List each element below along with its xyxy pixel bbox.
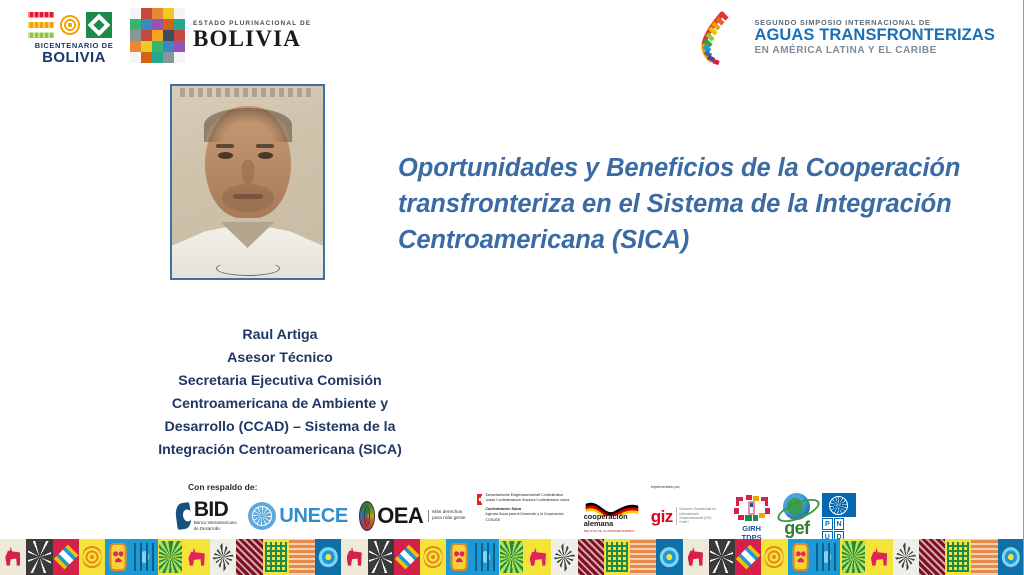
simposio-line3: EN AMÉRICA LATINA Y EL CARIBE xyxy=(754,45,995,56)
textile-tile xyxy=(998,539,1024,575)
wiphala-cell xyxy=(174,52,185,63)
wiphala-cell xyxy=(141,52,152,63)
textile-tile xyxy=(735,539,761,575)
textile-tile xyxy=(446,539,472,575)
cosude-agency-text: Agencia Suiza para el Desarrollo y la Co… xyxy=(485,512,572,523)
wiphala-cell xyxy=(152,52,163,63)
textile-tile xyxy=(105,539,131,575)
girh-tdps-mark-icon xyxy=(732,493,772,523)
bicentenario-icon-row xyxy=(28,12,120,38)
textile-tile xyxy=(158,539,184,575)
photo-hair xyxy=(204,108,292,142)
simposio-logo-text: SEGUNDO SIMPOSIO INTERNACIONAL DE AGUAS … xyxy=(754,18,995,55)
textile-tile xyxy=(761,539,787,575)
wiphala-cell xyxy=(130,19,141,30)
wiphala-cell xyxy=(152,19,163,30)
sponsor-logo-pnud: P N U D xyxy=(822,493,856,539)
giz-wordmark: giz xyxy=(651,508,673,525)
wiphala-cell xyxy=(163,19,174,30)
unece-wordmark: UNECE xyxy=(279,505,348,528)
wiphala-cell xyxy=(174,8,185,19)
textile-tile xyxy=(394,539,420,575)
wiphala-mosaic-icon xyxy=(130,8,186,62)
sponsor-logo-giz: Implementado por giz Deutsche Gesellscha… xyxy=(651,493,721,539)
textile-tile xyxy=(945,539,971,575)
wiphala-cell xyxy=(163,8,174,19)
giz-subtitle: Deutsche Gesellschaft für Internationale… xyxy=(676,507,721,524)
sponsor-logo-gef: gef xyxy=(783,493,811,539)
sponsor-logo-unece: UNECE xyxy=(248,493,348,539)
wiphala-cell xyxy=(152,41,163,52)
bicentenario-square-tile-icon xyxy=(86,12,112,38)
textile-tile xyxy=(315,539,341,575)
pnud-letter-n: N xyxy=(834,518,845,530)
wiphala-cell xyxy=(141,30,152,41)
textile-tile xyxy=(840,539,866,575)
gef-globe-icon xyxy=(783,493,810,520)
wiphala-cell xyxy=(163,41,174,52)
textile-tile xyxy=(26,539,52,575)
pnud-letter-p: P xyxy=(822,518,833,530)
passport-text-strip xyxy=(180,88,315,97)
segundo-simposio-internacional-aguas-transfronterizas-logo: SEGUNDO SIMPOSIO INTERNACIONAL DE AGUAS … xyxy=(695,8,995,66)
textile-tile xyxy=(184,539,210,575)
speaker-line-5: Integración Centroamericana (SICA) xyxy=(110,439,450,462)
photo-mouth xyxy=(233,194,263,199)
photo-eye-right xyxy=(258,152,273,159)
sponsor-logo-oea: OEA Más derechos para más gente xyxy=(359,493,466,539)
pnud-cell-blank-1 xyxy=(845,518,856,530)
estado-line2: BOLIVIA xyxy=(193,27,311,50)
wiphala-cell xyxy=(174,30,185,41)
wiphala-cell xyxy=(163,52,174,63)
sponsor-logo-cosude: Schweizerische Eidgenossenschaft Confédé… xyxy=(477,493,573,539)
sponsors-logo-strip: BID Banco Interamericano de Desarrollo U… xyxy=(176,492,856,540)
water-droplet-icon xyxy=(695,8,749,66)
wiphala-cell xyxy=(152,30,163,41)
swiss-flag-icon xyxy=(477,494,483,505)
cosude-confederation-text: Schweizerische Eidgenossenschaft Confédé… xyxy=(485,493,572,504)
simposio-line2: AGUAS TRANSFRONTERIZAS xyxy=(754,27,995,44)
sponsor-logo-girh-tdps: GIRH TDPS xyxy=(732,493,772,539)
textile-tile xyxy=(971,539,997,575)
textile-tile xyxy=(551,539,577,575)
speaker-photo xyxy=(170,84,325,280)
oea-seal-icon xyxy=(359,501,375,531)
pnud-emblem-box xyxy=(822,493,856,517)
textile-tile xyxy=(0,539,26,575)
presentation-slide: BICENTENARIO DE BOLIVIA ESTADO PLURINACI… xyxy=(0,0,1024,575)
wiphala-cell xyxy=(130,41,141,52)
andean-textile-border xyxy=(0,539,1024,575)
bicentenario-e-tile-icon xyxy=(28,12,54,38)
sponsor-logo-bid: BID Banco Interamericano de Desarrollo xyxy=(176,493,237,539)
speaker-line-0: Raul Artiga xyxy=(110,324,450,347)
estado-plurinacional-de-bolivia-logo: ESTADO PLURINACIONAL DE BOLIVIA xyxy=(130,8,311,62)
wiphala-cell xyxy=(174,19,185,30)
textile-tile xyxy=(473,539,499,575)
textile-tile xyxy=(814,539,840,575)
photo-nose xyxy=(241,160,254,184)
textile-tile xyxy=(788,539,814,575)
speaker-line-4: Desarrollo (CCAD) – Sistema de la xyxy=(110,416,450,439)
bid-subtitle: Banco Interamericano de Desarrollo xyxy=(194,520,238,531)
speaker-line-3: Centroamericana de Ambiente y xyxy=(110,393,450,416)
textile-tile xyxy=(630,539,656,575)
speaker-line-2: Secretaria Ejecutiva Comisión xyxy=(110,370,450,393)
wiphala-cell xyxy=(141,41,152,52)
textile-tile xyxy=(236,539,262,575)
bid-mark-icon xyxy=(174,502,192,530)
bid-wordmark: BID xyxy=(194,501,238,520)
sponsors-label: Con respaldo de: xyxy=(188,482,257,492)
textile-tile xyxy=(709,539,735,575)
textile-tile xyxy=(656,539,682,575)
cooperacion-alemana-mark: cooperación alemana DEUTSCHE ZUSAMMENARB… xyxy=(584,499,640,533)
textile-tile xyxy=(604,539,630,575)
textile-tile xyxy=(420,539,446,575)
textile-tile xyxy=(263,539,289,575)
wiphala-cell xyxy=(163,30,174,41)
photo-glasses xyxy=(216,261,280,276)
textile-tile xyxy=(893,539,919,575)
speaker-info-block: Raul Artiga Asesor Técnico Secretaria Ej… xyxy=(110,324,450,462)
wiphala-cell xyxy=(130,52,141,63)
wiphala-cell xyxy=(130,8,141,19)
cooperacion-alemana-subtitle: DEUTSCHE ZUSAMMENARBEIT xyxy=(584,529,635,533)
speaker-line-1: Asesor Técnico xyxy=(110,347,450,370)
textile-tile xyxy=(341,539,367,575)
united-nations-emblem-icon xyxy=(248,502,276,530)
bicentenario-spiral-tile-icon xyxy=(57,12,83,38)
wiphala-cell xyxy=(130,30,141,41)
textile-tile xyxy=(683,539,709,575)
bicentenario-line2: BOLIVIA xyxy=(28,50,120,65)
textile-tile xyxy=(866,539,892,575)
cooperacion-alemana-wordmark: cooperación alemana xyxy=(584,513,640,528)
page-title: Oportunidades y Beneficios de la Coopera… xyxy=(398,150,998,259)
photo-eye-left xyxy=(218,152,233,159)
textile-tile xyxy=(210,539,236,575)
estado-logo-text: ESTADO PLURINACIONAL DE BOLIVIA xyxy=(193,20,311,50)
wiphala-cell xyxy=(141,8,152,19)
giz-supertitle: Implementado por xyxy=(651,485,680,489)
textile-tile xyxy=(578,539,604,575)
textile-tile xyxy=(919,539,945,575)
textile-tile xyxy=(368,539,394,575)
bicentenario-de-bolivia-logo: BICENTENARIO DE BOLIVIA xyxy=(28,12,120,65)
textile-tile xyxy=(499,539,525,575)
textile-tile xyxy=(289,539,315,575)
wiphala-cell xyxy=(141,19,152,30)
wiphala-cell xyxy=(174,41,185,52)
photo-eyebrow-right xyxy=(256,144,274,148)
sponsor-logo-cooperacion-alemana: cooperación alemana DEUTSCHE ZUSAMMENARB… xyxy=(584,493,640,539)
united-nations-emblem-icon xyxy=(829,496,848,515)
wiphala-cell xyxy=(152,8,163,19)
textile-tile xyxy=(79,539,105,575)
oea-tagline: Más derechos para más gente xyxy=(428,510,465,522)
photo-eyebrow-left xyxy=(216,144,234,148)
oea-wordmark: OEA xyxy=(377,503,423,529)
textile-tile xyxy=(53,539,79,575)
textile-tile xyxy=(131,539,157,575)
textile-tile xyxy=(525,539,551,575)
